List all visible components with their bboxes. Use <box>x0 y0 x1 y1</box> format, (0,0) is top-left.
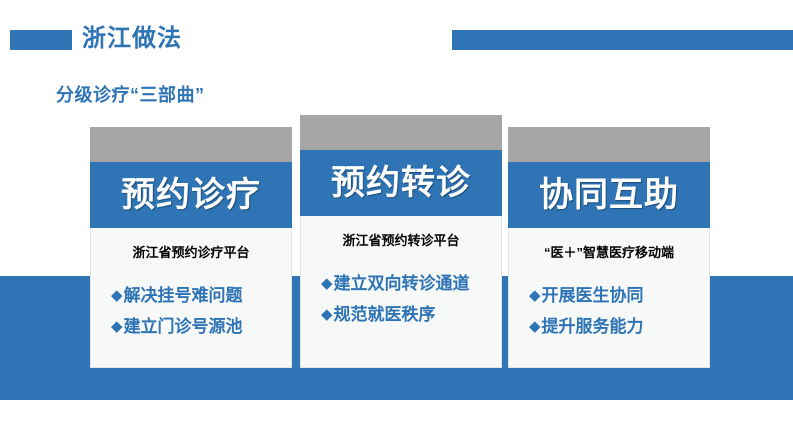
list-item: ◆ 建立双向转诊通道 <box>321 272 495 296</box>
card-appointment-treatment[interactable]: 预约诊疗 浙江省预约诊疗平台 ◆ 解决挂号难问题 ◆ 建立门诊号源池 <box>90 115 292 368</box>
card-subtitle: 浙江省预约转诊平台 <box>342 232 459 250</box>
card-bullet-list: ◆ 开展医生协同 ◆ 提升服务能力 <box>515 284 703 339</box>
list-item: ◆ 规范就医秩序 <box>321 303 495 327</box>
list-item: ◆ 建立门诊号源池 <box>111 315 285 339</box>
card-appointment-referral[interactable]: 预约转诊 浙江省预约转诊平台 ◆ 建立双向转诊通道 ◆ 规范就医秩序 <box>300 115 502 368</box>
card-subtitle: 浙江省预约诊疗平台 <box>132 244 249 262</box>
list-item: ◆ 开展医生协同 <box>529 284 703 308</box>
card-body: 浙江省预约转诊平台 ◆ 建立双向转诊通道 ◆ 规范就医秩序 <box>300 216 502 368</box>
card-header-label: 预约转诊 <box>331 163 471 203</box>
list-item-label: 建立双向转诊通道 <box>334 272 470 296</box>
card-header-label: 预约诊疗 <box>121 175 261 215</box>
section-subtitle: 分级诊疗“三部曲” <box>56 82 205 108</box>
card-bullet-list: ◆ 解决挂号难问题 ◆ 建立门诊号源池 <box>97 284 285 339</box>
card-header: 预约诊疗 <box>90 162 292 228</box>
card-gray-cap <box>300 115 502 150</box>
diamond-bullet-icon: ◆ <box>111 315 123 339</box>
diamond-bullet-icon: ◆ <box>321 272 333 296</box>
diamond-bullet-icon: ◆ <box>321 303 333 327</box>
page-title: 浙江做法 <box>82 22 182 56</box>
card-gray-cap <box>508 127 710 162</box>
card-gray-cap <box>90 127 292 162</box>
card-header-label: 协同互助 <box>539 175 679 215</box>
header-accent-bar-left <box>10 30 72 50</box>
list-item: ◆ 提升服务能力 <box>529 315 703 339</box>
card-body: “医＋”智慧医疗移动端 ◆ 开展医生协同 ◆ 提升服务能力 <box>508 228 710 368</box>
card-bullet-list: ◆ 建立双向转诊通道 ◆ 规范就医秩序 <box>307 272 495 327</box>
card-header: 协同互助 <box>508 162 710 228</box>
list-item-label: 规范就医秩序 <box>334 303 436 327</box>
card-collaboration-mutual-aid[interactable]: 协同互助 “医＋”智慧医疗移动端 ◆ 开展医生协同 ◆ 提升服务能力 <box>508 115 710 368</box>
diamond-bullet-icon: ◆ <box>529 315 541 339</box>
diamond-bullet-icon: ◆ <box>111 284 123 308</box>
card-subtitle: “医＋”智慧医疗移动端 <box>544 244 674 262</box>
header-accent-bar-right <box>452 30 793 50</box>
list-item-label: 建立门诊号源池 <box>124 315 243 339</box>
card-header: 预约转诊 <box>300 150 502 216</box>
list-item: ◆ 解决挂号难问题 <box>111 284 285 308</box>
card-body: 浙江省预约诊疗平台 ◆ 解决挂号难问题 ◆ 建立门诊号源池 <box>90 228 292 368</box>
list-item-label: 解决挂号难问题 <box>124 284 243 308</box>
list-item-label: 开展医生协同 <box>542 284 644 308</box>
list-item-label: 提升服务能力 <box>542 315 644 339</box>
diamond-bullet-icon: ◆ <box>529 284 541 308</box>
